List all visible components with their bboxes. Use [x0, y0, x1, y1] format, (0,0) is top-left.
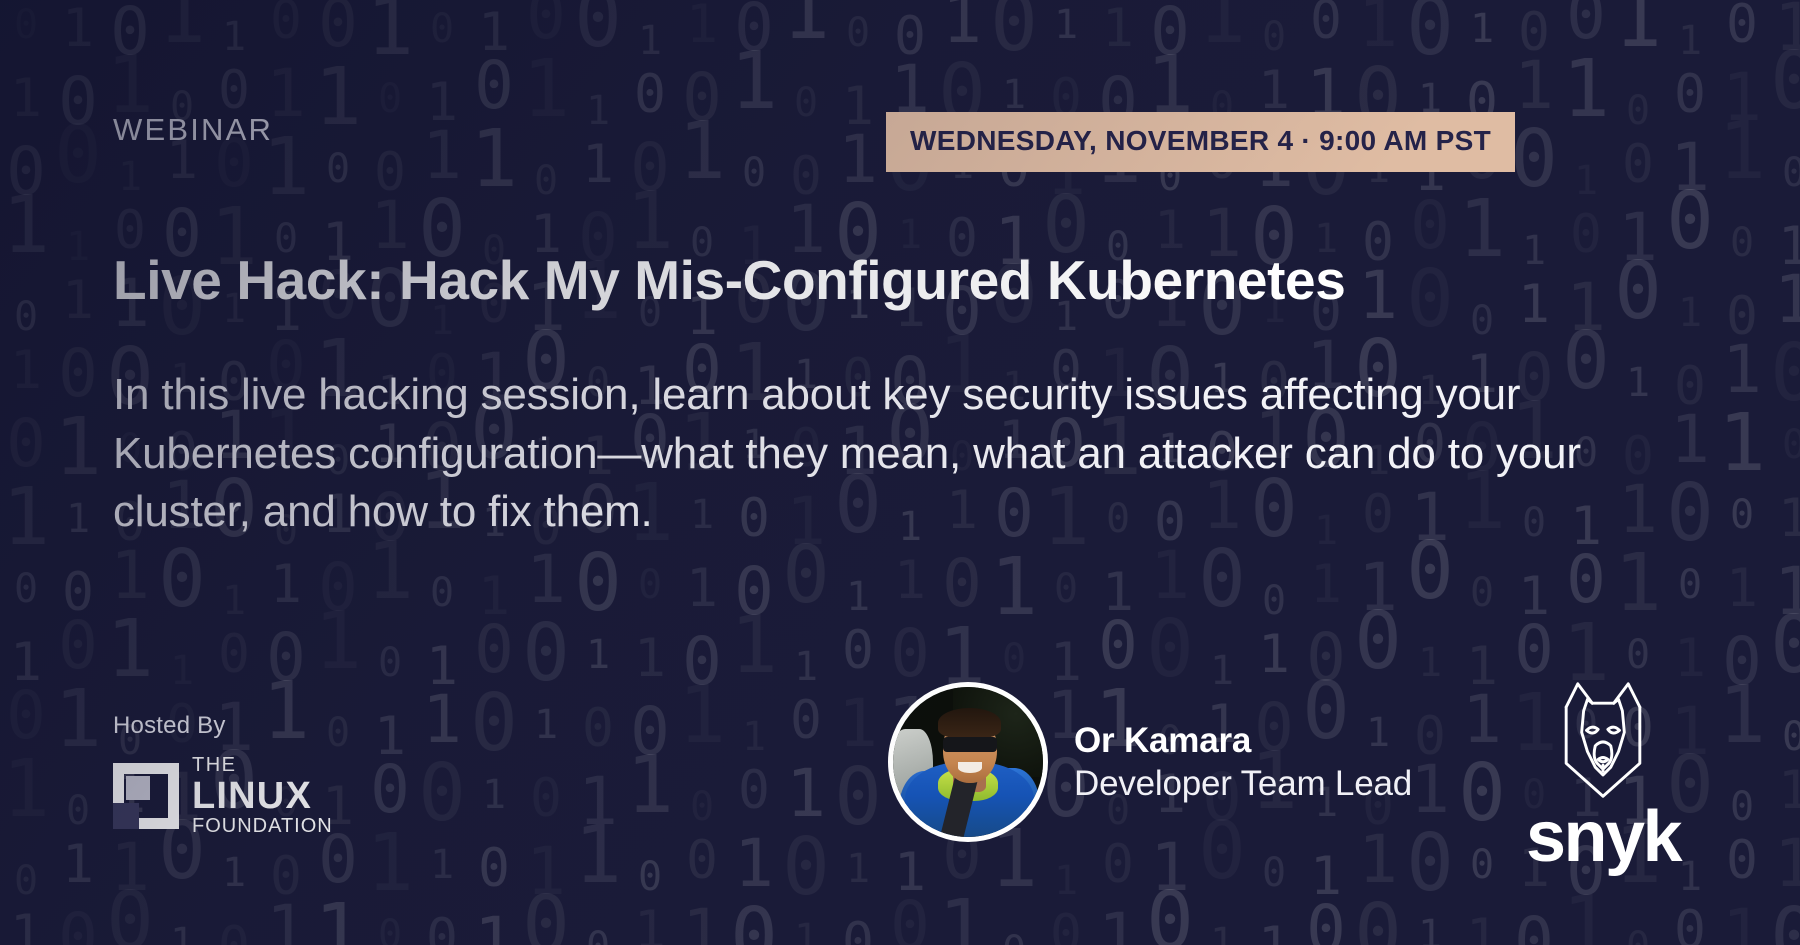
speaker-text: Or Kamara Developer Team Lead — [1074, 721, 1412, 803]
speaker-role: Developer Team Lead — [1074, 764, 1412, 803]
speaker-name: Or Kamara — [1074, 721, 1412, 760]
content-layer: WEBINAR WEDNESDAY, NOVEMBER 4 · 9:00 AM … — [0, 0, 1800, 945]
lf-word-linux: LINUX — [192, 777, 333, 815]
linux-foundation-bracket-icon — [113, 763, 179, 829]
lf-word-foundation: FOUNDATION — [192, 816, 333, 836]
webinar-promo-graphic: 0101100101001101001011010010100110101010… — [0, 0, 1800, 945]
snyk-dog-shield-icon — [1544, 678, 1662, 804]
snyk-wordmark: snyk — [1518, 808, 1688, 867]
speaker-block: Or Kamara Developer Team Lead — [888, 682, 1412, 842]
page-title: Live Hack: Hack My Mis-Configured Kubern… — [113, 248, 1673, 312]
description-text: In this live hacking session, learn abou… — [113, 366, 1653, 542]
linux-foundation-logo: THE LINUX FOUNDATION — [113, 755, 333, 836]
hosted-by-block: Hosted By THE LINUX FOUNDATION — [113, 712, 333, 836]
date-time-badge: WEDNESDAY, NOVEMBER 4 · 9:00 AM PST — [886, 112, 1515, 172]
kicker-label: WEBINAR — [113, 112, 273, 148]
lf-word-the: THE — [192, 755, 333, 775]
snyk-logo: snyk — [1518, 678, 1688, 867]
hosted-by-label: Hosted By — [113, 712, 333, 740]
avatar — [888, 682, 1048, 842]
linux-foundation-wordmark: THE LINUX FOUNDATION — [192, 755, 333, 836]
